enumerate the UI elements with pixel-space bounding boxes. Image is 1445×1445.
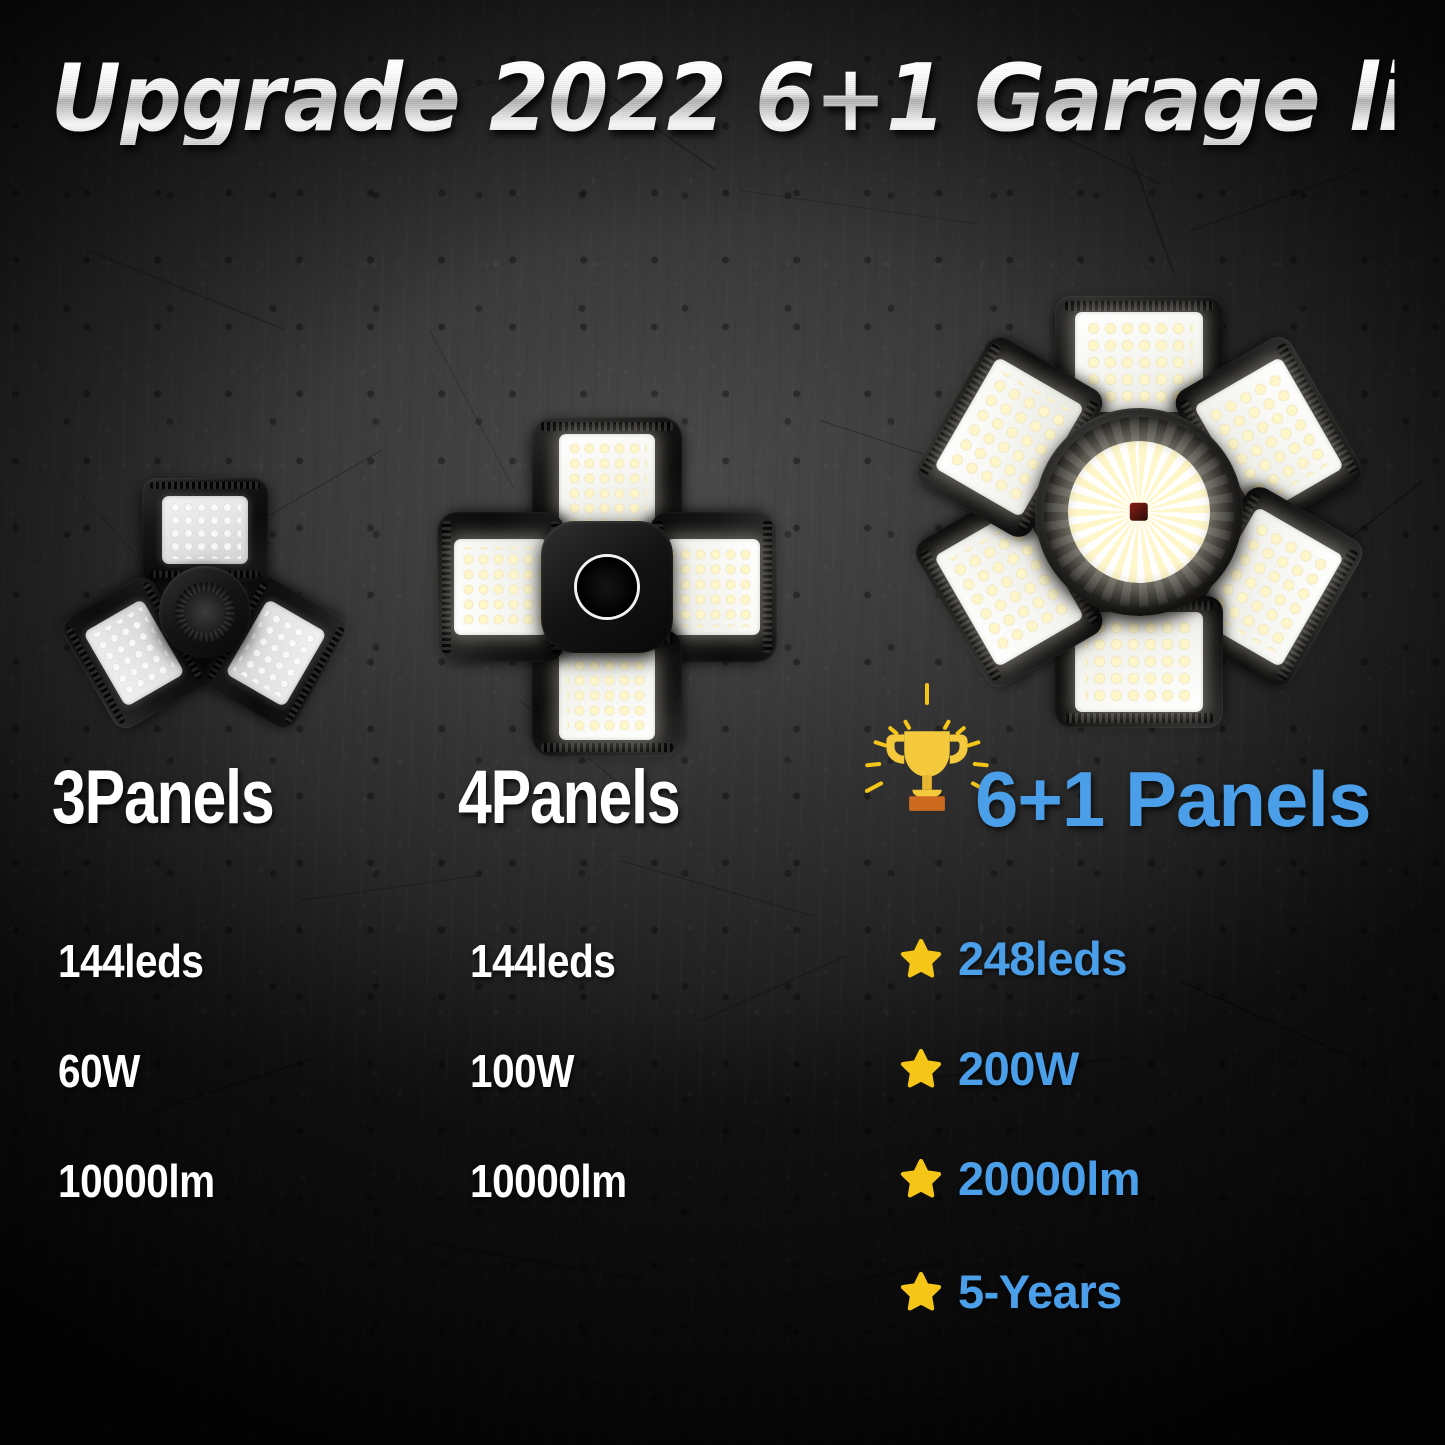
spec-6plus1-warranty: 5-Years (958, 1268, 1122, 1315)
spec-6plus1-lumens: 20000lm (958, 1155, 1140, 1202)
garage-light-3-panel-image (70, 487, 340, 737)
star-icon (898, 1156, 944, 1202)
lamp-led-board (559, 646, 655, 741)
lamp-led-chips (567, 441, 648, 521)
star-icon (898, 1269, 944, 1315)
spec-4panel-leds: 144leds (470, 938, 615, 984)
trophy-cup (875, 715, 979, 819)
spec-4panel-lumens: 10000lm (470, 1158, 627, 1204)
lamp-vent (541, 422, 673, 431)
lamp-vent (1065, 301, 1213, 310)
page-title: Upgrade 2022 6+1 Garage ligt (51, 52, 1395, 145)
lamp-led-board (162, 496, 248, 565)
lamp-vent (541, 743, 673, 752)
spec-3panel-leds: 144leds (58, 938, 203, 984)
spec-6plus1-warranty-row: 5-Years (898, 1268, 1122, 1315)
product-comparison-infographic: Upgrade 2022 6+1 Garage ligt Upgrade 202… (0, 0, 1445, 1445)
spec-6plus1-leds: 248leds (958, 935, 1127, 982)
column-label-3panels: 3Panels (52, 760, 273, 836)
lamp-led-chips (1085, 620, 1192, 704)
lamp-led-chips (461, 547, 541, 628)
spec-4panel-watts: 100W (470, 1048, 574, 1094)
lamp-vent (763, 521, 772, 653)
star-icon (898, 936, 944, 982)
lamp-vent (442, 521, 451, 653)
lamp-vent (1065, 714, 1213, 723)
lamp-led-board (559, 434, 655, 529)
lamp-hub-center (577, 557, 637, 617)
lamp-vent (150, 482, 261, 489)
lamp-led-chips (567, 653, 648, 733)
column-label-6plus1panels: 6+1 Panels (975, 760, 1370, 838)
garage-light-4-panel-image (428, 412, 786, 762)
lamp-hub-center (184, 591, 226, 633)
spec-6plus1-leds-row: 248leds (898, 935, 1127, 982)
star-icon (898, 1046, 944, 1092)
trophy-ray (925, 683, 929, 705)
spec-6plus1-lumens-row: 20000lm (898, 1155, 1140, 1202)
garage-light-6-plus-1-panel-image (900, 282, 1378, 742)
spec-6plus1-watts: 200W (958, 1045, 1079, 1092)
spec-3panel-lumens: 10000lm (58, 1158, 215, 1204)
spec-3panel-watts: 60W (58, 1048, 140, 1094)
lamp-led-chips (1085, 320, 1192, 404)
spec-6plus1-watts-row: 200W (898, 1045, 1079, 1092)
column-label-4panels: 4Panels (458, 760, 679, 836)
lamp-led-chips (673, 547, 753, 628)
lamp-center-led (1068, 441, 1210, 583)
lamp-led-chips (169, 501, 241, 559)
lamp-led-board (454, 539, 549, 635)
lamp-led-board (666, 539, 761, 635)
